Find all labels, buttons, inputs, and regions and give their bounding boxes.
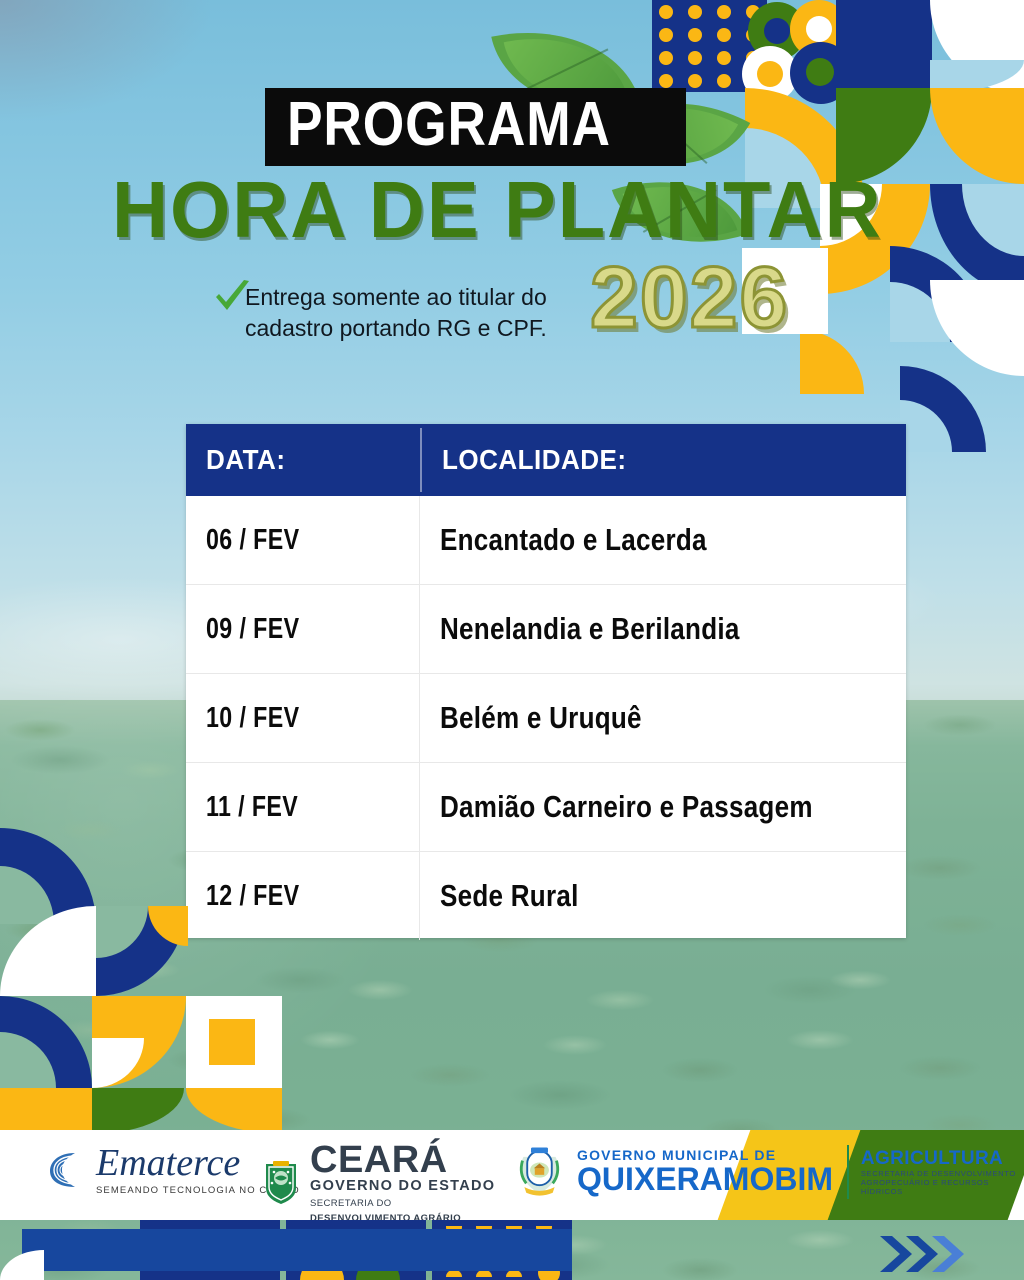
row-date-text: 09 / FEV	[206, 613, 299, 646]
table-header-cell-data: DATA:	[186, 424, 420, 496]
ceara-wordmark: CEARÁ	[310, 1142, 495, 1178]
agricultura-line2: AGROPECUÁRIO E RECURSOS HÍDRICOS	[861, 1178, 1024, 1196]
table-cell-data: 12 / FEV	[186, 852, 420, 940]
row-locality-text: Nenelandia e Berilandia	[440, 611, 740, 647]
bottom-white-corner	[0, 1250, 44, 1280]
ceara-secretariat-line2: DESENVOLVIMENTO AGRÁRIO	[310, 1213, 495, 1220]
row-locality-text: Belém e Uruquê	[440, 700, 642, 736]
table-cell-localidade: Damião Carneiro e Passagem	[420, 763, 906, 851]
program-label-banner: PROGRAMA	[265, 88, 686, 166]
table-row: 10 / FEV Belém e Uruquê	[186, 674, 906, 763]
chevron-right-triple-icon	[878, 1232, 968, 1276]
schedule-table: DATA: LOCALIDADE: 06 / FEV Encantado e L…	[186, 424, 906, 938]
bottom-blue-band	[22, 1229, 572, 1271]
bottom-dot-7	[446, 1270, 462, 1277]
quixeramobim-wordmark: QUIXERAMOBIM	[577, 1163, 833, 1196]
table-header-localidade-label: LOCALIDADE:	[442, 444, 626, 476]
row-date-text: 06 / FEV	[206, 524, 299, 557]
table-row: 06 / FEV Encantado e Lacerda	[186, 496, 906, 585]
table-header-row: DATA: LOCALIDADE:	[186, 424, 906, 496]
ematerce-logo-icon	[48, 1150, 102, 1190]
row-date-text: 10 / FEV	[206, 702, 299, 735]
ceara-logo: CEARÁ GOVERNO DO ESTADO SECRETARIA DO DE…	[262, 1142, 495, 1220]
square-blue-top	[836, 0, 932, 88]
table-cell-data: 10 / FEV	[186, 674, 420, 762]
table-cell-localidade: Sede Rural	[420, 852, 906, 940]
table-cell-data: 09 / FEV	[186, 585, 420, 673]
rect-yellow-bl	[0, 1088, 92, 1134]
table-row: 12 / FEV Sede Rural	[186, 852, 906, 940]
row-date-text: 12 / FEV	[206, 880, 299, 913]
circle-blue-inner-1	[764, 18, 790, 44]
bottom-strip	[0, 1220, 1024, 1280]
notice-line-1: Entrega somente ao titular do	[245, 282, 645, 313]
ceara-subtitle: GOVERNO DO ESTADO	[310, 1178, 495, 1194]
table-cell-data: 06 / FEV	[186, 496, 420, 584]
page-title: HORA DE PLANTAR	[112, 170, 849, 250]
ceara-crest-icon	[262, 1161, 300, 1205]
table-cell-localidade: Belém e Uruquê	[420, 674, 906, 762]
circle-green-inner-2	[806, 58, 834, 86]
notice-text: Entrega somente ao titular do cadastro p…	[245, 282, 645, 344]
table-row: 09 / FEV Nenelandia e Berilandia	[186, 585, 906, 674]
footer-logo-band: Ematerce SEMEANDO TECNOLOGIA NO CAMPO CE…	[0, 1130, 1024, 1220]
table-row: 11 / FEV Damião Carneiro e Passagem	[186, 763, 906, 852]
agricultura-wordmark: AGRICULTURA	[861, 1149, 1024, 1169]
quixeramobim-crest-icon	[514, 1144, 565, 1200]
circle-yellow-inner-2	[757, 61, 783, 87]
table-cell-data: 11 / FEV	[186, 763, 420, 851]
table-header-data-label: DATA:	[206, 444, 285, 476]
table-header-cell-localidade: LOCALIDADE:	[422, 424, 906, 496]
circle-white-inner-1	[806, 16, 832, 42]
quixeramobim-logo: GOVERNO MUNICIPAL DE QUIXERAMOBIM AGRICU…	[514, 1144, 1024, 1200]
agricultura-line1: SECRETARIA DE DESENVOLVIMENTO	[861, 1169, 1024, 1178]
row-locality-text: Sede Rural	[440, 878, 579, 914]
row-locality-text: Encantado e Lacerda	[440, 522, 707, 558]
bottom-dot-8	[476, 1270, 492, 1277]
table-cell-localidade: Encantado e Lacerda	[420, 496, 906, 584]
table-cell-localidade: Nenelandia e Berilandia	[420, 585, 906, 673]
notice-line-2: cadastro portando RG e CPF.	[245, 313, 645, 344]
square-yellow-bl	[209, 1019, 255, 1065]
poster-canvas: PROGRAMA HORA DE PLANTAR 2026 Entrega so…	[0, 0, 1024, 1280]
ceara-secretariat-line1: SECRETARIA DO	[310, 1198, 495, 1209]
row-locality-text: Damião Carneiro e Passagem	[440, 789, 813, 825]
bottom-dot-9	[506, 1270, 522, 1277]
program-label-text: PROGRAMA	[287, 94, 611, 156]
row-date-text: 11 / FEV	[206, 791, 298, 824]
